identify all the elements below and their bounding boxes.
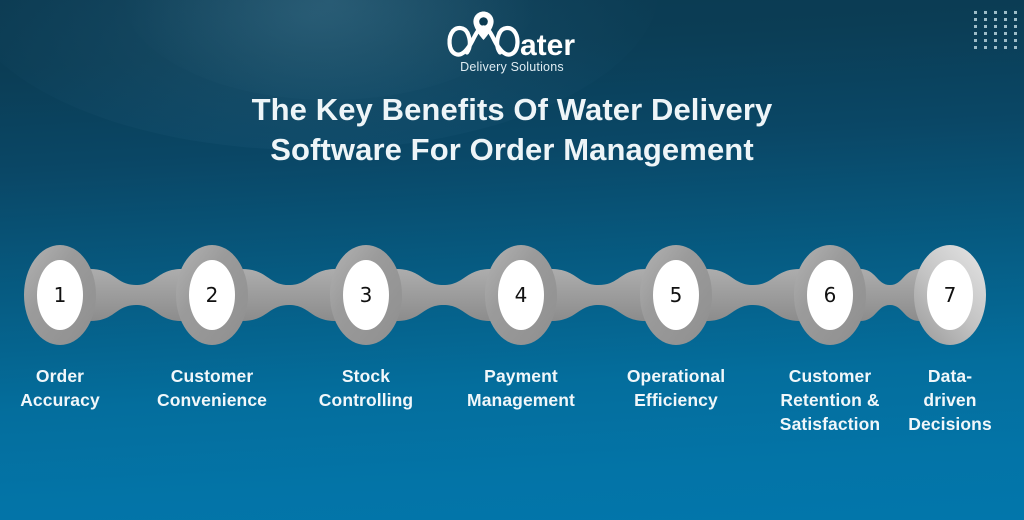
step-label-line: Accuracy <box>20 388 100 412</box>
step-labels: OrderAccuracyCustomerConvenienceStockCon… <box>0 364 1024 474</box>
logo-wordmark: ater <box>422 10 602 62</box>
step-label-line: Controlling <box>319 388 413 412</box>
step-label-line: Convenience <box>157 388 267 412</box>
step-number-3: 3 <box>343 260 389 330</box>
step-label-4: PaymentManagement <box>467 364 575 412</box>
step-label-line: Stock <box>319 364 413 388</box>
page-title-line-2: Software For Order Management <box>0 130 1024 170</box>
step-number-2: 2 <box>189 260 235 330</box>
step-label-line: Data-driven <box>908 364 992 412</box>
step-number-7: 7 <box>927 260 973 330</box>
brand-logo: ater Delivery Solutions <box>0 10 1024 86</box>
page-title: The Key Benefits Of Water Delivery Softw… <box>0 90 1024 170</box>
step-numbers: 1234567 <box>0 228 1024 363</box>
step-label-line: Customer <box>157 364 267 388</box>
step-label-line: Payment <box>467 364 575 388</box>
step-label-1: OrderAccuracy <box>20 364 100 412</box>
step-label-3: StockControlling <box>319 364 413 412</box>
step-number-6: 6 <box>807 260 853 330</box>
step-label-line: Retention & <box>780 388 880 412</box>
page-title-line-1: The Key Benefits Of Water Delivery <box>252 92 773 127</box>
step-label-line: Management <box>467 388 575 412</box>
step-label-5: OperationalEfficiency <box>627 364 725 412</box>
step-number-4: 4 <box>498 260 544 330</box>
step-label-line: Efficiency <box>627 388 725 412</box>
step-number-5: 5 <box>653 260 699 330</box>
logo-tagline: Delivery Solutions <box>460 60 564 74</box>
step-label-line: Order <box>20 364 100 388</box>
step-label-line: Decisions <box>908 412 992 436</box>
step-label-line: Satisfaction <box>780 412 880 436</box>
step-label-line: Operational <box>627 364 725 388</box>
step-label-6: CustomerRetention &Satisfaction <box>780 364 880 436</box>
infographic-canvas: ater Delivery Solutions The Key Benefits… <box>0 0 1024 520</box>
step-number-1: 1 <box>37 260 83 330</box>
step-label-line: Customer <box>780 364 880 388</box>
logo-text-rest: ater <box>520 29 575 62</box>
step-label-7: Data-drivenDecisions <box>908 364 992 436</box>
step-label-2: CustomerConvenience <box>157 364 267 412</box>
